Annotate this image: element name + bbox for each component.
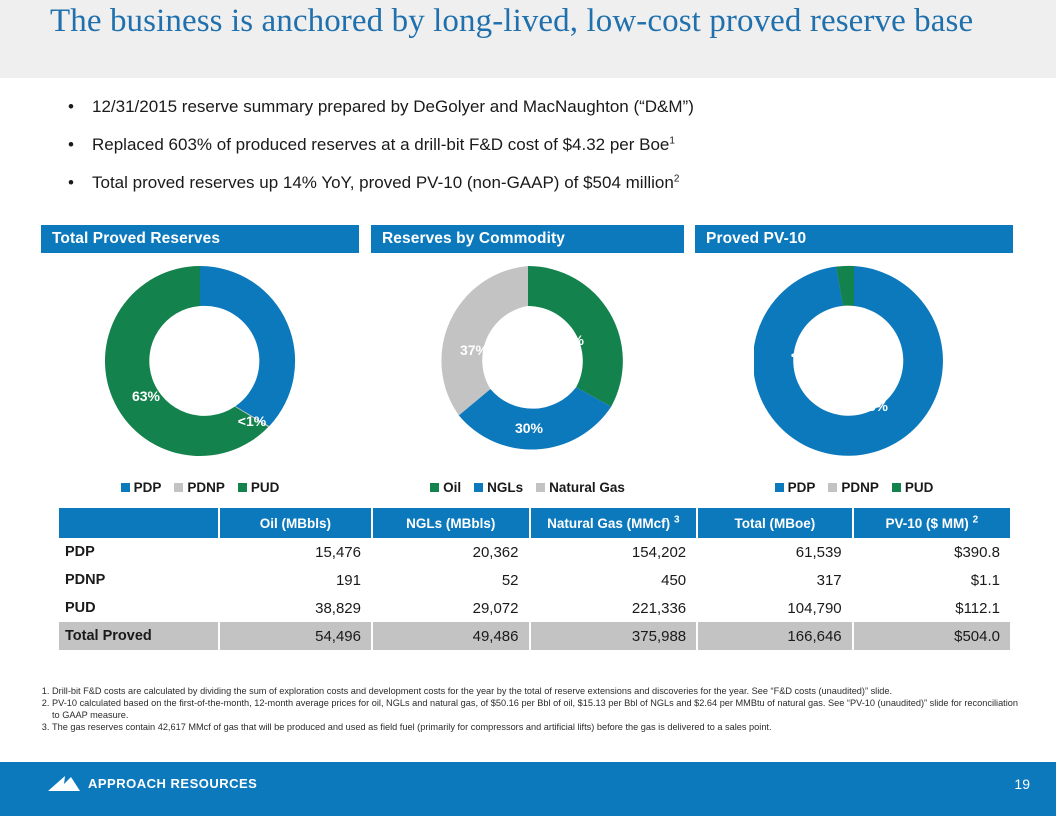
- table-header-natural-gas-label: Natural Gas (MMcf): [547, 516, 670, 531]
- legend-swatch-icon-natural-gas: [536, 483, 545, 492]
- table-header-blank: [59, 508, 218, 538]
- legend-item-natural-gas[interactable]: Natural Gas: [536, 480, 625, 495]
- chart-panel-total-proved-reserves: Total Proved Reserves 37% 63% <1% PDP PD…: [41, 225, 359, 495]
- legend-item-pud[interactable]: PUD: [238, 480, 280, 495]
- donut-slices-3: [754, 266, 943, 456]
- slice-label-ngls: 30%: [514, 420, 543, 436]
- legend-label-pdnp: PDNP: [187, 480, 225, 495]
- legend-swatch-icon-pdp: [121, 483, 130, 492]
- table-cell-natural-gas: 221,336: [531, 594, 697, 622]
- chart-title-proved-pv10: Proved PV-10: [695, 225, 1013, 253]
- table-body: PDP 15,476 20,362 154,202 61,539 $390.8 …: [59, 538, 1010, 650]
- legend-item-pdnp[interactable]: PDNP: [828, 480, 879, 495]
- bullet-marker-icon: •: [68, 172, 74, 194]
- table-header-row: Oil (MBbls) NGLs (MBbls) Natural Gas (MM…: [59, 508, 1010, 538]
- table-cell-natural-gas: 154,202: [531, 538, 697, 566]
- legend-swatch-icon-pdp: [775, 483, 784, 492]
- table-cell-natural-gas: 375,988: [531, 622, 697, 650]
- table-cell-ngls: 20,362: [373, 538, 529, 566]
- legend-swatch-icon-pdnp: [174, 483, 183, 492]
- table-cell-pv10: $112.1: [854, 594, 1010, 622]
- slice-label-pud: 63%: [132, 388, 161, 404]
- table-cell-oil: 191: [220, 566, 371, 594]
- footnote-item-3: The gas reserves contain 42,617 MMcf of …: [52, 722, 1018, 733]
- chart-title-total-proved-reserves: Total Proved Reserves: [41, 225, 359, 253]
- legend-item-oil[interactable]: Oil: [430, 480, 461, 495]
- table-cell-total: 61,539: [698, 538, 852, 566]
- slice-label-pdp: 78%: [860, 398, 889, 414]
- table-row: PDP 15,476 20,362 154,202 61,539 $390.8: [59, 538, 1010, 566]
- legend-item-pdnp[interactable]: PDNP: [174, 480, 225, 495]
- slice-label-natural-gas: 37%: [459, 342, 488, 358]
- table-header-pv10-sup: 2: [973, 514, 979, 525]
- table-cell-oil: 54,496: [220, 622, 371, 650]
- legend-item-ngls[interactable]: NGLs: [474, 480, 523, 495]
- table-header-ngls-label: NGLs (MBbls): [406, 516, 495, 531]
- footnote-item-1: Drill-bit F&D costs are calculated by di…: [52, 686, 1018, 697]
- legend-label-pud: PUD: [905, 480, 934, 495]
- bullet-item-2: • Replaced 603% of produced reserves at …: [62, 134, 1002, 156]
- bullet-text-2: Replaced 603% of produced reserves at a …: [92, 135, 669, 154]
- table-header-natural-gas: Natural Gas (MMcf) 3: [531, 508, 697, 538]
- footnotes-list: Drill-bit F&D costs are calculated by di…: [38, 686, 1018, 734]
- table-header: Oil (MBbls) NGLs (MBbls) Natural Gas (MM…: [59, 508, 1010, 538]
- slice-label-pdnp: <1%: [238, 413, 267, 429]
- table-header-pv10-label: PV-10 ($ MM): [886, 516, 969, 531]
- table-header-ngls: NGLs (MBbls): [373, 508, 529, 538]
- legend-label-pud: PUD: [251, 480, 280, 495]
- title-band: The business is anchored by long-lived, …: [0, 0, 1056, 78]
- legend-label-ngls: NGLs: [487, 480, 523, 495]
- donut-chart-reserves-by-commodity: 33% 30% 37%: [371, 261, 684, 476]
- table-header-total-label: Total (MBoe): [735, 516, 816, 531]
- legend-swatch-icon-pud: [892, 483, 901, 492]
- slice-label-pud: 22%: [811, 316, 840, 332]
- slice-natural-gas[interactable]: [441, 266, 528, 415]
- bullet-text-3: Total proved reserves up 14% YoY, proved…: [92, 173, 674, 192]
- legend-label-pdnp: PDNP: [841, 480, 879, 495]
- legend-swatch-icon-pdnp: [828, 483, 837, 492]
- donut-slices-1: [105, 266, 295, 456]
- chart-legend-2: Oil NGLs Natural Gas: [371, 480, 684, 495]
- legend-item-pud[interactable]: PUD: [892, 480, 934, 495]
- reserves-table: Oil (MBbls) NGLs (MBbls) Natural Gas (MM…: [57, 508, 1012, 650]
- legend-label-oil: Oil: [443, 480, 461, 495]
- table-cell-oil: 15,476: [220, 538, 371, 566]
- bullet-marker-icon: •: [68, 96, 74, 118]
- footnote-item-2: PV-10 calculated based on the first-of-t…: [52, 698, 1018, 721]
- chart-title-reserves-by-commodity: Reserves by Commodity: [371, 225, 684, 253]
- legend-swatch-icon-ngls: [474, 483, 483, 492]
- table-cell-ngls: 49,486: [373, 622, 529, 650]
- table-cell-oil: 38,829: [220, 594, 371, 622]
- slice-label-pdnp: < 1%: [791, 347, 824, 363]
- table-row: PUD 38,829 29,072 221,336 104,790 $112.1: [59, 594, 1010, 622]
- table-cell-pv10: $1.1: [854, 566, 1010, 594]
- bullet-item-1: • 12/31/2015 reserve summary prepared by…: [62, 96, 1002, 118]
- chart-panel-reserves-by-commodity: Reserves by Commodity 33% 30% 37% Oil NG…: [371, 225, 684, 495]
- page-number: 19: [1014, 776, 1030, 792]
- slice-ngls[interactable]: [458, 387, 610, 449]
- bullet-superscript-3: 2: [674, 173, 680, 184]
- slice-label-oil: 33%: [555, 332, 584, 348]
- donut-chart-total-proved-reserves: 37% 63% <1%: [41, 261, 359, 476]
- table-cell-label: PUD: [59, 594, 218, 622]
- table-cell-total: 317: [698, 566, 852, 594]
- table-cell-total: 104,790: [698, 594, 852, 622]
- mountain-logo-svg: [47, 774, 81, 794]
- footnotes: Drill-bit F&D costs are calculated by di…: [38, 686, 1018, 735]
- mountain-logo-icon: [47, 774, 81, 799]
- slice-label-pdp: 37%: [227, 348, 256, 364]
- legend-label-pdp: PDP: [788, 480, 816, 495]
- table-header-pv10: PV-10 ($ MM) 2: [854, 508, 1010, 538]
- page-title: The business is anchored by long-lived, …: [50, 2, 1010, 40]
- chart-legend-3: PDP PDNP PUD: [695, 480, 1013, 495]
- donut-svg-1: 37% 63% <1%: [100, 261, 300, 461]
- table-cell-label: PDNP: [59, 566, 218, 594]
- bullet-item-3: • Total proved reserves up 14% YoY, prov…: [62, 172, 1002, 194]
- table-cell-natural-gas: 450: [531, 566, 697, 594]
- table-header-natural-gas-sup: 3: [674, 514, 680, 525]
- donut-svg-3: 22% < 1% 78%: [754, 261, 954, 461]
- table-header-oil-label: Oil (MBbls): [260, 516, 331, 531]
- donut-svg-2: 33% 30% 37%: [428, 261, 628, 461]
- legend-swatch-icon-pud: [238, 483, 247, 492]
- legend-item-pdp[interactable]: PDP: [775, 480, 816, 495]
- table-header-oil: Oil (MBbls): [220, 508, 371, 538]
- slice-pdp[interactable]: [200, 266, 295, 426]
- table-cell-pv10: $390.8: [854, 538, 1010, 566]
- footer-brand-name: APPROACH RESOURCES: [88, 776, 257, 791]
- chart-legend-1: PDP PDNP PUD: [41, 480, 359, 495]
- table-header-total: Total (MBoe): [698, 508, 852, 538]
- table-cell-ngls: 52: [373, 566, 529, 594]
- table-cell-ngls: 29,072: [373, 594, 529, 622]
- bullet-marker-icon: •: [68, 134, 74, 156]
- table-cell-label: PDP: [59, 538, 218, 566]
- table-cell-total: 166,646: [698, 622, 852, 650]
- donut-chart-proved-pv10: 22% < 1% 78%: [695, 261, 1013, 476]
- table-cell-label: Total Proved: [59, 622, 218, 650]
- bullet-text-1: 12/31/2015 reserve summary prepared by D…: [92, 97, 694, 116]
- legend-swatch-icon-oil: [430, 483, 439, 492]
- legend-item-pdp[interactable]: PDP: [121, 480, 162, 495]
- table-cell-pv10: $504.0: [854, 622, 1010, 650]
- table-total-row: Total Proved 54,496 49,486 375,988 166,6…: [59, 622, 1010, 650]
- chart-panel-proved-pv10: Proved PV-10 22% < 1% 78% PDP PDNP: [695, 225, 1013, 495]
- legend-label-pdp: PDP: [134, 480, 162, 495]
- bullet-superscript-2: 1: [669, 135, 675, 146]
- table-row: PDNP 191 52 450 317 $1.1: [59, 566, 1010, 594]
- legend-label-natural-gas: Natural Gas: [549, 480, 625, 495]
- bullet-list: • 12/31/2015 reserve summary prepared by…: [62, 96, 1002, 210]
